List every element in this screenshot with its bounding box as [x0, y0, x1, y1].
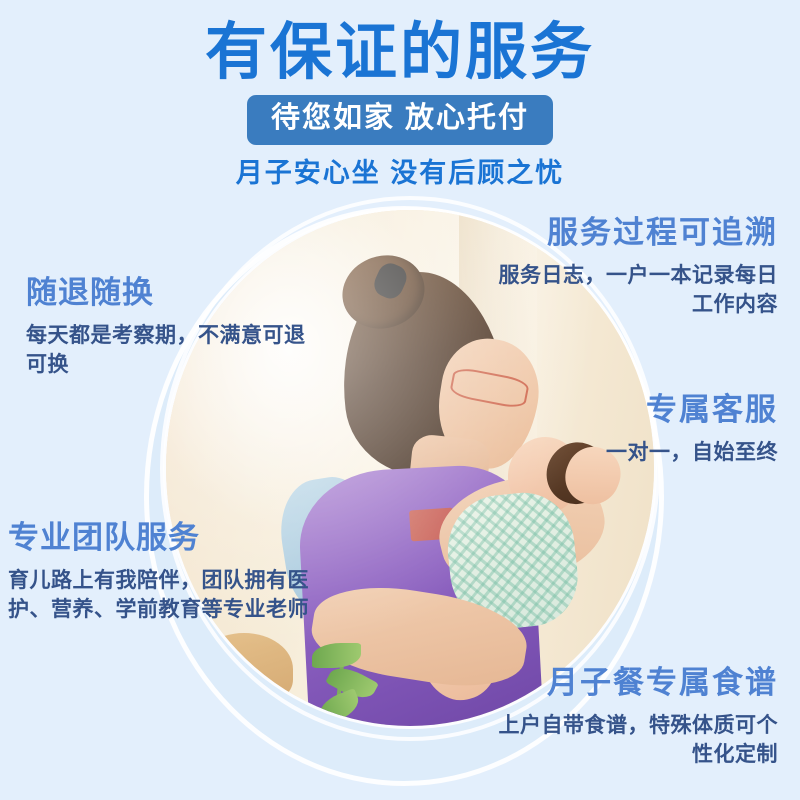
potted-plant: [312, 643, 400, 726]
feature-body: 每天都是考察期，不满意可退可换: [26, 321, 326, 381]
feature-body: 育儿路上有我陪伴，团队拥有医护、营养、学前教育等专业老师: [8, 566, 318, 626]
feature-heading: 月子餐专属食谱: [488, 665, 778, 701]
feature-body: 一对一，自始至终: [528, 438, 778, 468]
feature-heading: 专业团队服务: [8, 520, 318, 556]
feature-dedicated-support: 专属客服 一对一，自始至终: [528, 392, 778, 467]
feature-body: 服务日志，一户一本记录每日工作内容: [488, 261, 778, 321]
feature-postpartum-menu: 月子餐专属食谱 上户自带食谱，特殊体质可个性化定制: [488, 665, 778, 770]
poster-header: 有保证的服务 待您如家 放心托付 月子安心坐 没有后顾之忧: [0, 0, 800, 189]
feature-heading: 随退随换: [26, 275, 326, 311]
feature-heading: 服务过程可追溯: [488, 215, 778, 251]
badge-container: 待您如家 放心托付: [0, 95, 800, 144]
tagline-badge: 待您如家 放心托付: [247, 95, 553, 144]
plant-leaf: [315, 688, 363, 726]
feature-body: 上户自带食谱，特殊体质可个性化定制: [488, 711, 778, 771]
page-subtitle: 月子安心坐 没有后顾之忧: [0, 157, 800, 189]
feature-traceable-service: 服务过程可追溯 服务日志，一户一本记录每日工作内容: [488, 215, 778, 320]
basket-prop: [195, 633, 293, 705]
feature-professional-team: 专业团队服务 育儿路上有我陪伴，团队拥有医护、营养、学前教育等专业老师: [8, 520, 318, 625]
feature-return-exchange: 随退随换 每天都是考察期，不满意可退可换: [26, 275, 326, 380]
page-title: 有保证的服务: [0, 0, 800, 87]
plant-leaf: [312, 643, 360, 667]
feature-heading: 专属客服: [528, 392, 778, 428]
promo-poster: 有保证的服务 待您如家 放心托付 月子安心坐 没有后顾之忧: [0, 0, 800, 800]
